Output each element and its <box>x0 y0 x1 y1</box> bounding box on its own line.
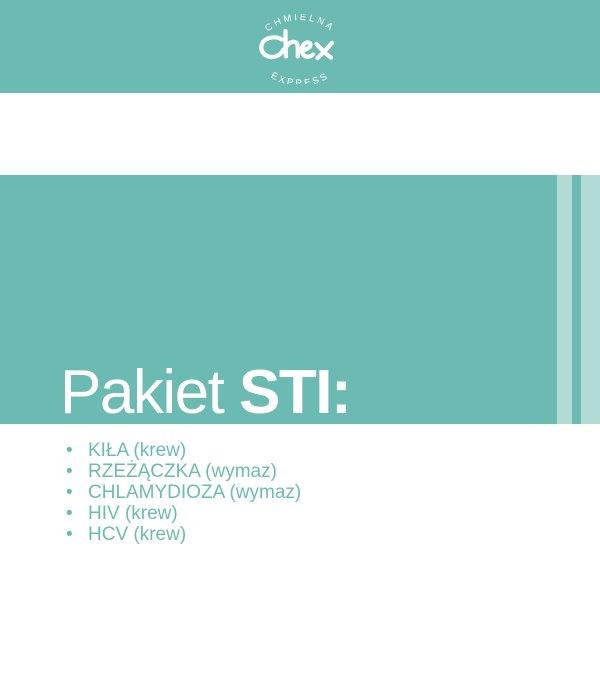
list-item-label: HCV (krew) <box>88 524 186 545</box>
list-item-label: RZEŻĄCZKA (wymaz) <box>88 461 277 482</box>
decorative-stripe-light-right <box>581 175 600 424</box>
list-item: • RZEŻĄCZKA (wymaz) <box>66 461 546 482</box>
page-title-emphasis: STI: <box>239 358 350 427</box>
svg-text:CHMIELNA: CHMIELNA <box>263 14 337 34</box>
list-item: • HCV (krew) <box>66 524 546 545</box>
list-item: • CHLAMYDIOZA (wymaz) <box>66 482 546 503</box>
list-item: • KIŁA (krew) <box>66 440 546 461</box>
svg-text:EXPRESS: EXPRESS <box>269 70 332 84</box>
decorative-stripe-light-left <box>557 175 572 424</box>
white-spacer <box>0 93 600 175</box>
decorative-stripe-dark <box>572 175 581 424</box>
bullet-icon: • <box>66 524 88 545</box>
header-band: CHMIELNA EXPRESS <box>0 0 600 93</box>
bullet-icon: • <box>66 482 88 503</box>
list-item-label: HIV (krew) <box>88 503 178 524</box>
bullet-icon: • <box>66 440 88 461</box>
list-item-label: KIŁA (krew) <box>88 440 186 461</box>
page-title-line-2: Na start <box>60 558 530 624</box>
list-item-label: CHLAMYDIOZA (wymaz) <box>88 482 301 503</box>
page-title-regular: Pakiet <box>60 358 239 427</box>
bullet-icon: • <box>66 503 88 524</box>
page-title-line-1: Pakiet STI: <box>60 360 530 426</box>
list-item: • HIV (krew) <box>66 503 546 524</box>
chex-logo[interactable]: CHMIELNA EXPRESS <box>240 14 360 84</box>
test-list: • KIŁA (krew) • RZEŻĄCZKA (wymaz) • CHLA… <box>66 440 546 545</box>
bullet-icon: • <box>66 461 88 482</box>
